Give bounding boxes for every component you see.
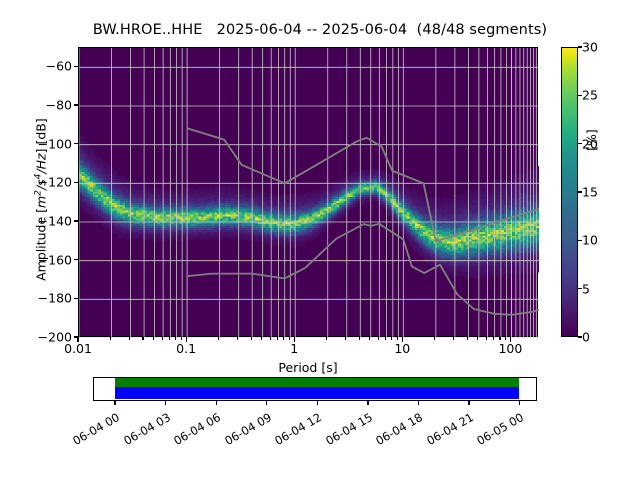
time-coverage-bar[interactable]	[93, 377, 537, 401]
time-axis-tick-label: 06-04 06	[162, 410, 223, 453]
x-axis-tick-mark	[153, 337, 154, 340]
time-axis-tick-mark	[266, 401, 267, 405]
y-axis-label-text: Amplitude [m2/s4/Hz] [dB]	[34, 118, 49, 281]
x-axis-tick-mark	[510, 337, 511, 342]
y-axis-tick-mark	[74, 298, 78, 299]
colorbar-tick-mark	[578, 46, 582, 47]
x-axis-tick-mark	[77, 337, 78, 342]
time-axis-tick-mark	[367, 401, 368, 405]
y-axis-tick-mark	[74, 182, 78, 183]
colorbar-tick-label: 10	[582, 233, 598, 248]
x-axis-tick-mark	[467, 337, 468, 340]
x-axis-tick-mark	[402, 337, 403, 342]
y-axis-tick-mark	[74, 259, 78, 260]
time-axis-tick-mark	[519, 401, 520, 405]
colorbar-tick-mark	[578, 191, 582, 192]
x-axis-tick-mark	[499, 337, 500, 340]
y-axis-tick-mark	[74, 220, 78, 221]
colorbar-tick-label: 20	[582, 136, 598, 151]
y-axis-tick-mark	[74, 104, 78, 105]
x-axis-tick-mark	[453, 337, 454, 340]
time-axis-tick-mark	[165, 401, 166, 405]
time-axis-tick-label: 06-04 12	[264, 410, 325, 453]
coverage-segment-green	[115, 378, 519, 387]
time-axis-tick-label: 06-04 03	[112, 410, 173, 453]
x-axis-tick-mark	[129, 337, 130, 340]
x-axis-tick-mark	[142, 337, 143, 340]
x-axis-tick-mark	[175, 337, 176, 340]
x-axis-tick-mark	[359, 337, 360, 340]
time-axis-tick-mark	[418, 401, 419, 405]
noise-model-curves	[79, 48, 539, 338]
time-axis-tick-label: 06-05 00	[466, 410, 527, 453]
x-axis-tick-mark	[326, 337, 327, 340]
colorbar-tick-mark	[578, 336, 582, 337]
x-axis-tick-mark	[505, 337, 506, 340]
time-axis-tick-label: 06-04 21	[415, 410, 476, 453]
time-axis-tick-mark	[216, 401, 217, 405]
x-axis-tick-label: 100	[498, 341, 522, 356]
colorbar-tick-label: 25	[582, 88, 598, 103]
colorbar-tick-mark	[578, 288, 582, 289]
colorbar-tick-mark	[578, 143, 582, 144]
x-axis-tick-mark	[385, 337, 386, 340]
colorbar-tick-label: 30	[582, 40, 598, 55]
x-axis-label: Period [s]	[78, 360, 538, 375]
x-axis-tick-mark	[251, 337, 252, 340]
x-axis-tick-mark	[391, 337, 392, 340]
colorbar-tick-mark	[578, 95, 582, 96]
colorbar-tick-label: 5	[582, 281, 590, 296]
y-axis-label: Amplitude [m2/s4/Hz] [dB]	[33, 55, 48, 345]
x-axis-tick-mark	[186, 337, 187, 342]
x-axis-tick-mark	[289, 337, 290, 340]
x-axis-tick-label: 0.1	[176, 341, 196, 356]
x-axis-tick-label: 0.01	[64, 341, 92, 356]
x-axis-tick-mark	[277, 337, 278, 340]
x-axis-tick-mark	[270, 337, 271, 340]
x-axis-tick-mark	[397, 337, 398, 340]
ppsd-axes	[78, 47, 538, 337]
x-axis-tick-mark	[345, 337, 346, 340]
colorbar-tick-mark	[578, 240, 582, 241]
x-axis-tick-mark	[162, 337, 163, 340]
time-axis-tick-mark	[468, 401, 469, 405]
x-axis-tick-mark	[169, 337, 170, 340]
x-axis-tick-label: 1	[290, 341, 298, 356]
x-axis-tick-mark	[486, 337, 487, 340]
time-axis-tick-mark	[114, 401, 115, 405]
x-axis-tick-mark	[378, 337, 379, 340]
time-axis-tick-label: 06-04 15	[314, 410, 375, 453]
x-axis-tick-mark	[369, 337, 370, 340]
x-axis-tick-mark	[493, 337, 494, 340]
y-axis-tick-mark	[74, 143, 78, 144]
x-axis-tick-mark	[477, 337, 478, 340]
x-axis-tick-mark	[261, 337, 262, 340]
coverage-segment-blue	[115, 387, 519, 399]
colorbar-tick-label: 0	[582, 330, 590, 345]
x-axis-tick-mark	[181, 337, 182, 340]
x-axis-tick-mark	[218, 337, 219, 340]
x-axis-tick-label: 10	[394, 341, 410, 356]
ppsd-figure: BW.HROE..HHE 2025-06-04 -- 2025-06-04 (4…	[0, 0, 640, 480]
x-axis-tick-mark	[434, 337, 435, 340]
x-axis-tick-mark	[110, 337, 111, 340]
time-axis-tick-mark	[317, 401, 318, 405]
time-axis-tick-label: 06-04 18	[365, 410, 426, 453]
x-axis-tick-mark	[237, 337, 238, 340]
colorbar	[561, 47, 578, 337]
colorbar-tick-label: 15	[582, 185, 598, 200]
y-axis-tick-mark	[74, 66, 78, 67]
x-axis-tick-mark	[294, 337, 295, 342]
time-axis-tick-label: 06-04 09	[213, 410, 274, 453]
figure-title: BW.HROE..HHE 2025-06-04 -- 2025-06-04 (4…	[0, 22, 640, 38]
x-axis-tick-mark	[283, 337, 284, 340]
